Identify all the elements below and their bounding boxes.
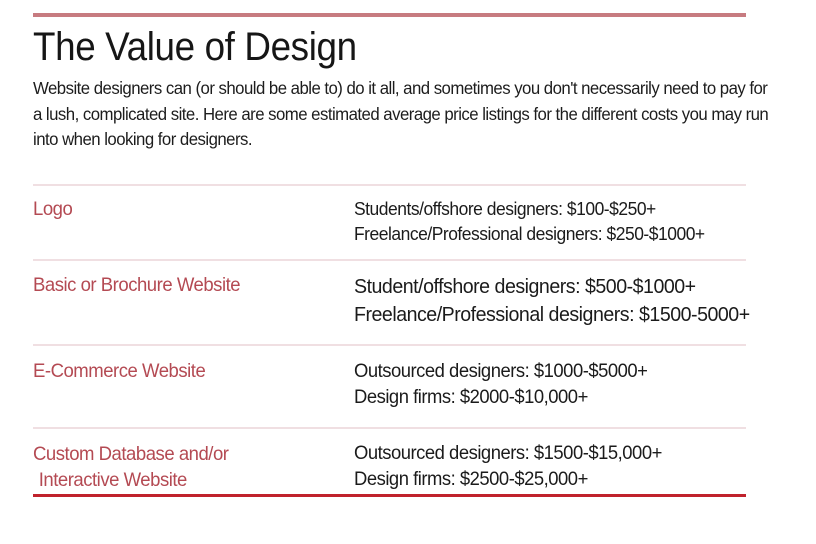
row-value-line: Students/offshore designers: $100-$250+ (354, 197, 730, 222)
table-row: Basic or Brochure Website Student/offsho… (33, 259, 746, 344)
row-label-text: E-Commerce Website (33, 360, 205, 382)
row-value-line: Freelance/Professional designers: $250-$… (354, 222, 730, 247)
row-label-text-line-2: Interactive Website (33, 467, 338, 493)
row-label: E-Commerce Website (33, 359, 338, 384)
row-value-line: Design firms: $2500-$25,000+ (354, 467, 730, 493)
top-divider-rule (33, 13, 746, 17)
row-label: Basic or Brochure Website (33, 273, 338, 298)
intro-paragraph: Website designers can (or should be able… (33, 76, 772, 153)
row-label: Logo (33, 197, 338, 222)
row-label-text: Custom Database and/or (33, 443, 229, 465)
row-values: Outsourced designers: $1500-$15,000+ Des… (354, 441, 730, 493)
row-value-line: Student/offshore designers: $500-$1000+ (354, 273, 750, 301)
row-value-line: Freelance/Professional designers: $1500-… (354, 301, 750, 329)
bottom-divider-rule (33, 494, 746, 497)
row-value-line: Outsourced designers: $1000-$5000+ (354, 359, 730, 385)
row-label-text: Basic or Brochure Website (33, 274, 240, 296)
table-row: Logo Students/offshore designers: $100-$… (33, 184, 746, 259)
table-row: E-Commerce Website Outsourced designers:… (33, 344, 746, 427)
table-row: Custom Database and/or Interactive Websi… (33, 427, 746, 495)
pricing-table: Logo Students/offshore designers: $100-$… (33, 184, 746, 495)
page-root: The Value of Design Website designers ca… (0, 0, 816, 544)
row-value-line: Outsourced designers: $1500-$15,000+ (354, 441, 730, 467)
row-values: Students/offshore designers: $100-$250+ … (354, 197, 730, 247)
row-values: Student/offshore designers: $500-$1000+ … (354, 273, 750, 329)
page-title: The Value of Design (33, 24, 732, 70)
row-label-text: Logo (33, 198, 72, 220)
row-values: Outsourced designers: $1000-$5000+ Desig… (354, 359, 730, 411)
row-label: Custom Database and/or Interactive Websi… (33, 441, 338, 493)
row-value-line: Design firms: $2000-$10,000+ (354, 385, 730, 411)
header-block: The Value of Design Website designers ca… (33, 24, 793, 153)
